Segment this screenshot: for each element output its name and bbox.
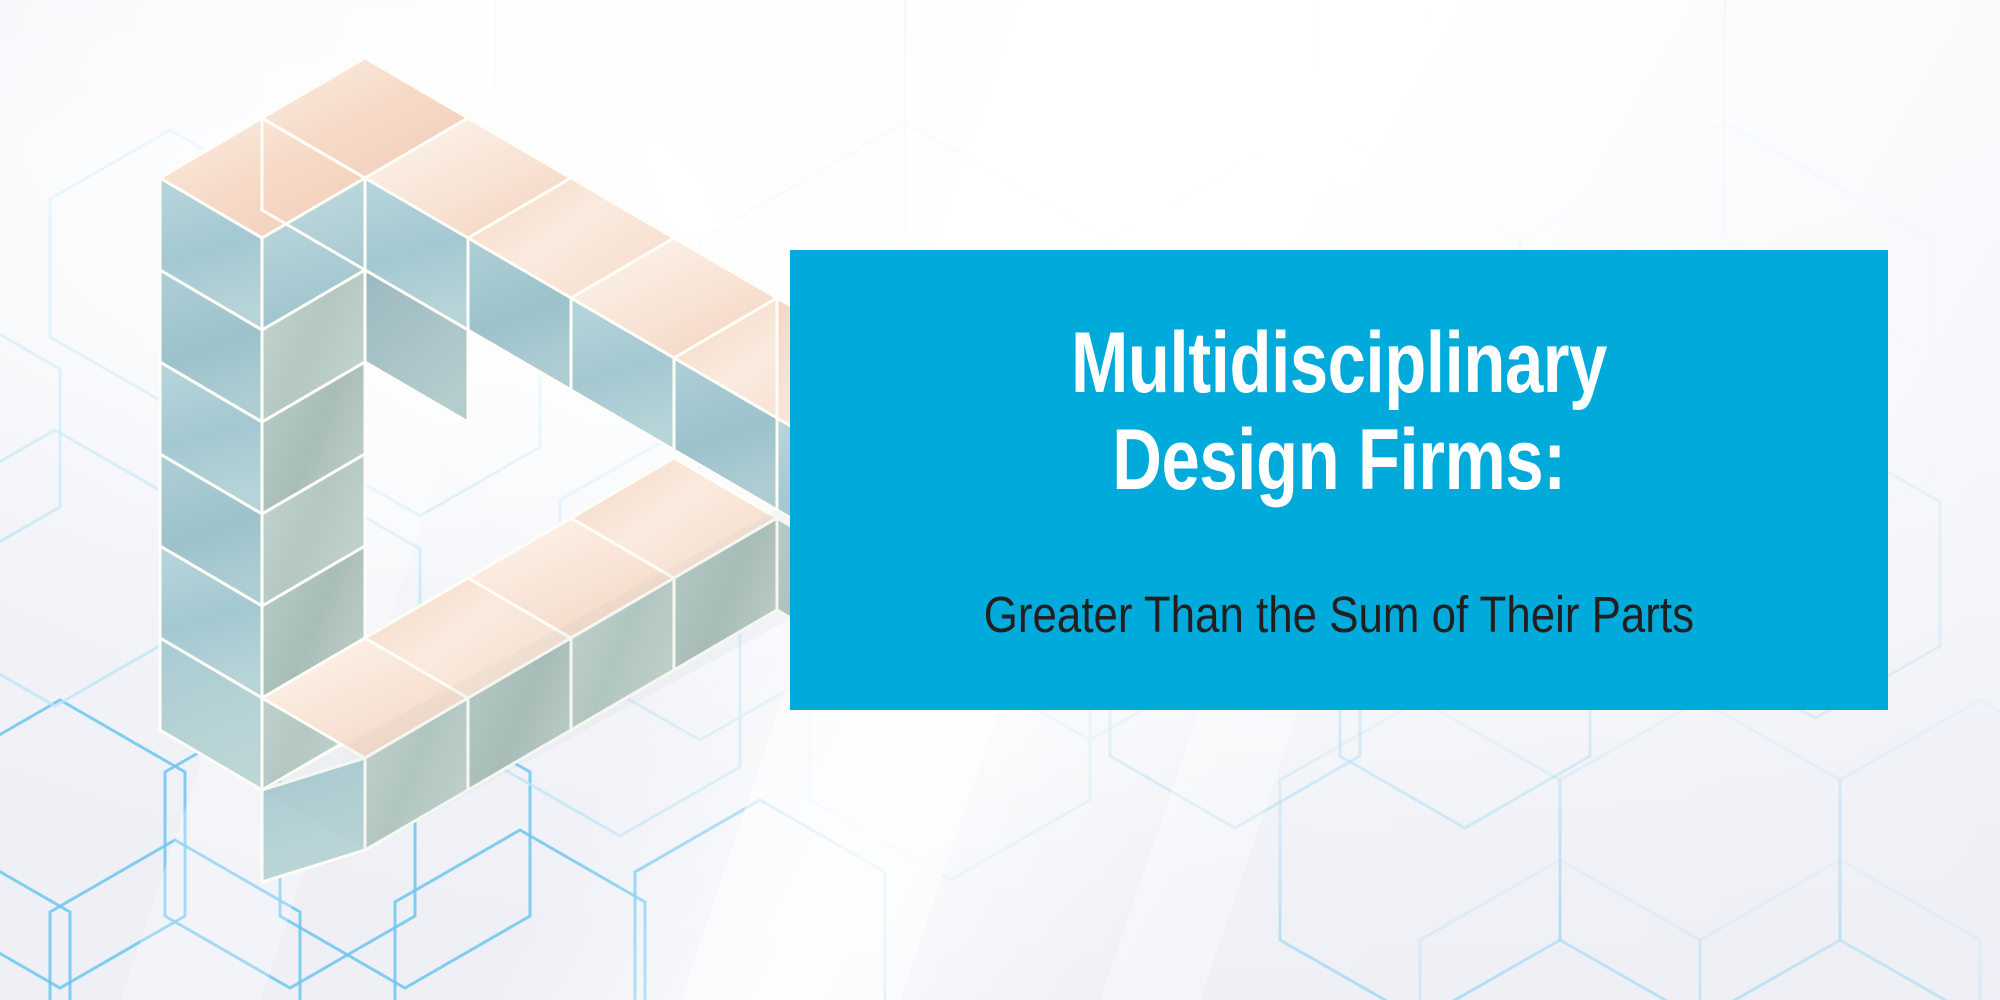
page-title: Multidisciplinary Design Firms: (1071, 315, 1607, 509)
title-line-1: Multidisciplinary (1071, 315, 1607, 412)
hero-banner: Multidisciplinary Design Firms: Greater … (0, 0, 2000, 1000)
title-line-2: Design Firms: (1071, 412, 1607, 509)
page-subtitle: Greater Than the Sum of Their Parts (984, 510, 1694, 645)
title-panel: Multidisciplinary Design Firms: Greater … (790, 250, 1888, 710)
